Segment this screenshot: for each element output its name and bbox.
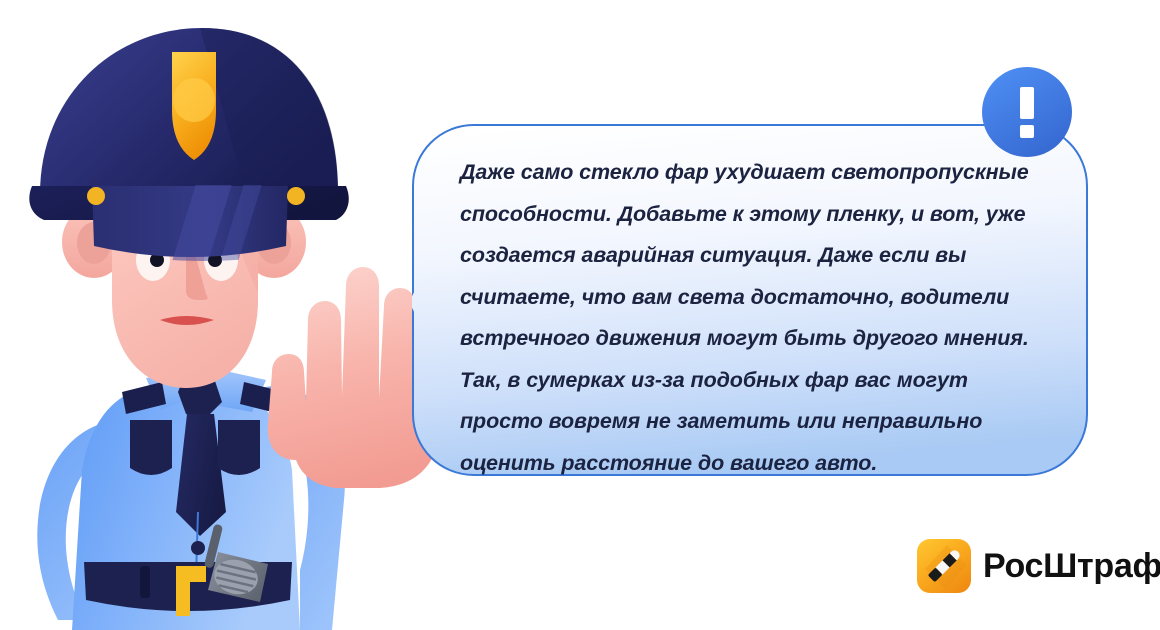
speech-bubble: Даже само стекло фар ухудшает светопропу… xyxy=(412,124,1088,476)
brand-logo[interactable]: РосШтрафы xyxy=(917,539,1160,593)
officer-pocket-right xyxy=(218,420,260,475)
alert-badge xyxy=(982,67,1072,157)
police-baton-icon xyxy=(917,539,971,593)
police-officer-illustration xyxy=(0,0,440,630)
bubble-text-run: Так, в сумерках из-за подобных фар вас м… xyxy=(460,368,982,475)
exclamation-dot-icon xyxy=(1020,125,1034,138)
poster-canvas: Даже само стекло фар ухудшает светопропу… xyxy=(0,0,1160,630)
exclamation-mark-icon xyxy=(1020,87,1034,119)
officer-hat-button-right xyxy=(287,187,305,205)
officer-shirt-button xyxy=(191,541,205,555)
officer-hat-button-left xyxy=(87,187,105,205)
brand-name: РосШтрафы xyxy=(983,549,1160,583)
speech-bubble-text: Даже само стекло фар ухудшает светопропу… xyxy=(460,152,1044,484)
officer-belt-loop xyxy=(140,566,150,598)
officer-pocket-left xyxy=(130,420,172,475)
